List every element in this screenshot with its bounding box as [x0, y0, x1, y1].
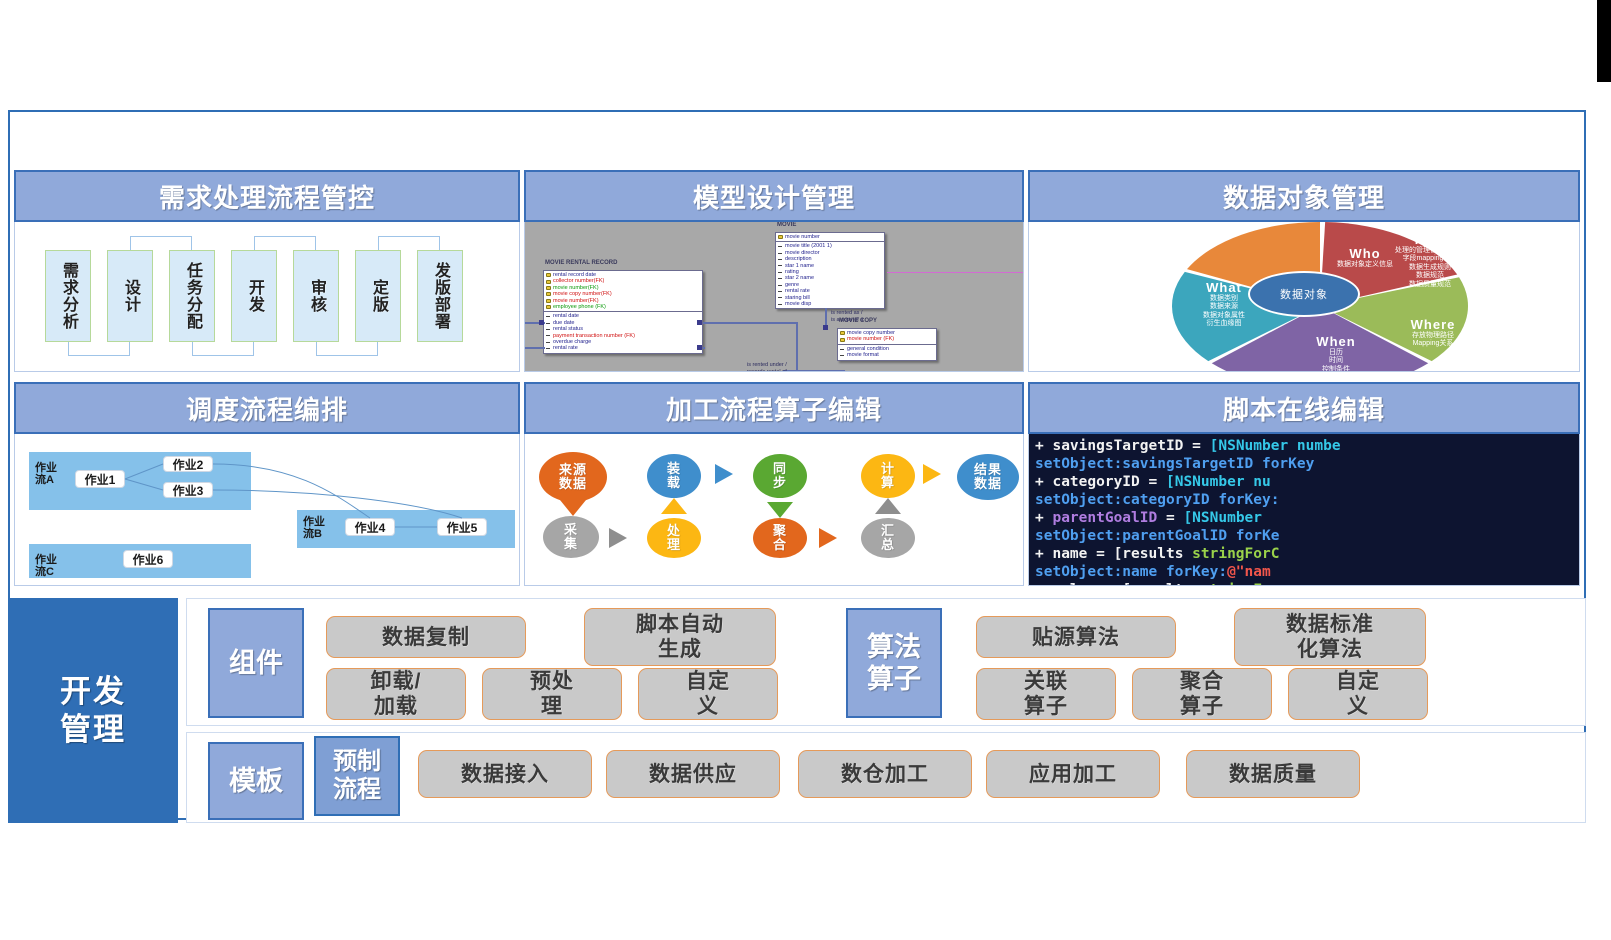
operator-node[interactable]: 同 步 [753, 454, 807, 498]
code-token: [NSNumber nu [1166, 474, 1271, 490]
dev-management-rows: 组件数据复制脚本自动 生成卸载/ 加载预处 理自定 义算法 算子贴源算法数据标准… [186, 598, 1586, 823]
requirement-workflow-diagram: 需求分析设计任务分配开发审核定版发版部署 [15, 222, 519, 371]
flow-arrow-down-icon [560, 500, 586, 516]
template-chip[interactable]: 数据质量 [1186, 750, 1360, 798]
key-icon [840, 338, 845, 342]
template-chip[interactable]: 应用加工 [986, 750, 1160, 798]
er-table-name: MOVIE [777, 222, 796, 228]
code-line: + name = [results stringForC [1035, 545, 1579, 563]
component-chip[interactable]: 脚本自动 生成 [584, 608, 776, 666]
workflow-step[interactable]: 定版 [355, 250, 401, 342]
workflow-step[interactable]: 设计 [107, 250, 153, 342]
dash-icon [840, 349, 844, 350]
er-relation-endpoint [697, 345, 702, 350]
dev-management-sidebar-label: 开发 管理 [8, 598, 178, 823]
key-icon [546, 286, 551, 290]
dev-tag-component[interactable]: 组件 [208, 608, 304, 718]
er-relation-line [796, 322, 798, 370]
key-icon [546, 280, 551, 284]
panel-schedule-header: 调度流程编排 [14, 382, 520, 434]
er-diagram: MOVIE RENTAL RECORDrental record datecol… [525, 222, 1023, 371]
panel-script-title: 脚本在线编辑 [1223, 390, 1385, 427]
schedule-edge [125, 479, 163, 490]
code-line: setObject:savingsTargetID forKey [1035, 455, 1579, 473]
panel-operator-title: 加工流程算子编辑 [666, 390, 882, 427]
operator-node[interactable]: 采 集 [543, 516, 599, 558]
er-key-row: employee phone (FK) [546, 304, 700, 310]
dev-tag-template[interactable]: 模板 [208, 742, 304, 820]
schedule-flow-diagram: 作业 流A作业 流B作业 流C作业1作业2作业3作业4作业5作业6 [15, 434, 519, 585]
script-code-editor[interactable]: + savingsTargetID = [NSNumber numbesetOb… [1029, 434, 1579, 585]
code-token: categoryID [1052, 474, 1139, 490]
panel-operator-header: 加工流程算子编辑 [524, 382, 1024, 434]
er-relation-endpoint [539, 320, 544, 325]
panel-operator-body: 来源 数据采 集装 载处 理同 步聚 合计 算汇 总结果 数据 [524, 434, 1024, 586]
panel-model-title: 模型设计管理 [693, 178, 855, 215]
dash-icon [840, 355, 844, 356]
dash-icon [778, 285, 782, 286]
key-icon [546, 305, 551, 309]
dash-icon [778, 278, 782, 279]
code-token: setObject:name forKey: [1035, 564, 1227, 580]
flow-arrow-right-icon [819, 528, 837, 548]
component-chip[interactable]: 预处 理 [482, 668, 622, 720]
code-token: parentGoalID [1052, 510, 1157, 526]
operator-node[interactable]: 结果 数据 [957, 454, 1019, 500]
dev-tag-algorithm[interactable]: 算法 算子 [846, 608, 942, 718]
pie-segment-label: When日历 时间 控制条件 [1290, 334, 1382, 373]
code-token: stringForC [1192, 546, 1279, 562]
code-token: setObject:parentGoalID forKe [1035, 528, 1279, 544]
template-chip[interactable]: 数据供应 [606, 750, 780, 798]
er-field-label: employee phone (FK) [553, 304, 606, 310]
operator-node[interactable]: 处 理 [647, 518, 701, 558]
er-relation-line-pink [887, 272, 1024, 273]
panel-script[interactable]: 脚本在线编辑 + savingsTargetID = [NSNumber num… [1028, 382, 1580, 586]
schedule-edge [125, 464, 163, 479]
code-line: setObject:name forKey:@"nam [1035, 563, 1579, 581]
er-field-label: movie format [847, 352, 879, 358]
code-token: + [1035, 582, 1052, 585]
pie-segment-label: How处理的管理信息及算法 字段mapping信息 数据生成规则 数据规范 数据… [1385, 232, 1475, 290]
workflow-connector [254, 236, 316, 250]
key-icon [778, 235, 783, 239]
data-object-pie-chart: Who数据对象定义信息How处理的管理信息及算法 字段mapping信息 数据生… [1029, 222, 1579, 371]
dash-icon [546, 329, 550, 330]
er-attr-section: general conditionmovie format [838, 345, 936, 360]
flow-arrow-up-icon [661, 498, 687, 514]
er-field-label: movie number (FK) [847, 336, 894, 342]
pie-segment-detail: 日历 时间 控制条件 [1290, 349, 1382, 373]
er-table[interactable]: MOVIEmovie numbermovie title (2001 1)mov… [775, 232, 885, 309]
code-token: setObject:savingsTargetID forKey [1035, 456, 1314, 472]
panel-requirement-header: 需求处理流程管控 [14, 170, 520, 222]
panel-model[interactable]: 模型设计管理 MOVIE RENTAL RECORDrental record … [524, 170, 1024, 372]
algorithm-chip[interactable]: 聚合 算子 [1132, 668, 1272, 720]
dash-icon [546, 348, 550, 349]
code-token: + [1035, 510, 1052, 526]
code-token: + [1035, 546, 1052, 562]
pie-segment-detail: 处理的管理信息及算法 字段mapping信息 数据生成规则 数据规范 数据质量规… [1385, 247, 1475, 290]
pie-segment-label: Where存放物理路径 Mapping关系 [1392, 317, 1474, 349]
right-edge-strip [1597, 0, 1611, 82]
code-line: setObject:parentGoalID forKe [1035, 527, 1579, 545]
panel-dataobject-body: Who数据对象定义信息How处理的管理信息及算法 字段mapping信息 数据生… [1028, 222, 1580, 372]
component-chip[interactable]: 卸载/ 加载 [326, 668, 466, 720]
operator-flow-diagram: 来源 数据采 集装 载处 理同 步聚 合计 算汇 总结果 数据 [525, 434, 1023, 585]
er-relation-line [525, 347, 545, 349]
pie-center-label: 数据对象 [1248, 271, 1360, 317]
schedule-edge [213, 490, 462, 518]
workflow-step[interactable]: 发版部署 [417, 250, 463, 342]
code-token: = [results [1087, 546, 1192, 562]
algorithm-chip[interactable]: 贴源算法 [976, 616, 1176, 658]
operator-node[interactable]: 装 载 [647, 454, 701, 498]
pie-segment-title: Where [1392, 317, 1474, 332]
panel-requirement-title: 需求处理流程管控 [159, 178, 375, 215]
er-field-label: movie disp [785, 301, 811, 307]
dash-icon [778, 246, 782, 247]
operator-node[interactable]: 汇 总 [861, 518, 915, 558]
panel-requirement-body: 需求分析设计任务分配开发审核定版发版部署 [14, 222, 520, 372]
workflow-connector [316, 342, 378, 356]
er-relation-line [783, 370, 845, 372]
operator-node[interactable]: 来源 数据 [539, 452, 607, 502]
code-line: setObject:categoryID forKey: [1035, 491, 1579, 509]
dash-icon [778, 259, 782, 260]
operator-node[interactable]: 聚 合 [753, 518, 807, 558]
dash-icon [778, 272, 782, 273]
code-token: name [1052, 546, 1087, 562]
er-key-section: movie number [776, 233, 884, 242]
key-icon [546, 299, 551, 303]
slide-canvas: 统一开发配置界面 需求处理流程管控 需求分析设计任务分配开发审核定版发版部署 模… [0, 0, 1611, 940]
code-token: = [1140, 474, 1166, 490]
dash-icon [546, 316, 550, 317]
algorithm-chip[interactable]: 数据标准 化算法 [1234, 608, 1426, 666]
code-token: [NSNumber numbe [1210, 438, 1341, 454]
code-token: @"nam [1227, 564, 1271, 580]
er-key-section: movie copy numbermovie number (FK) [838, 329, 936, 345]
component-chip[interactable]: 自定 义 [638, 668, 778, 720]
er-field-label: movie number [785, 234, 820, 240]
er-relation-endpoint [823, 325, 828, 330]
dev-tag-preset-flow[interactable]: 预制 流程 [314, 736, 400, 816]
er-attr-section: movie title (2001 1)movie directordescri… [776, 242, 884, 308]
component-chip[interactable]: 数据复制 [326, 616, 526, 658]
workflow-connector [378, 236, 440, 250]
workflow-step[interactable]: 任务分配 [169, 250, 215, 342]
algorithm-chip[interactable]: 关联 算子 [976, 668, 1116, 720]
pie-segment-title: How [1385, 232, 1475, 247]
er-attr-section: rental datedue daterental statuspayment … [544, 312, 702, 352]
panel-operator[interactable]: 加工流程算子编辑 来源 数据采 集装 载处 理同 步聚 合计 算汇 总结果 数据 [524, 382, 1024, 586]
code-token: setObject:categoryID forKey: [1035, 492, 1279, 508]
dash-icon [546, 335, 550, 336]
er-table[interactable]: MOVIE RENTAL RECORDrental record datecol… [543, 270, 703, 354]
code-token: = [1183, 438, 1209, 454]
panel-model-body: MOVIE RENTAL RECORDrental record datecol… [524, 222, 1024, 372]
panel-schedule-title: 调度流程编排 [186, 390, 348, 427]
panel-requirement[interactable]: 需求处理流程管控 需求分析设计任务分配开发审核定版发版部署 [14, 170, 520, 372]
panel-dataobject-title: 数据对象管理 [1223, 178, 1385, 215]
code-token: + [1035, 438, 1052, 454]
dash-icon [778, 291, 782, 292]
workflow-connector [68, 342, 130, 356]
code-token: + [1035, 474, 1052, 490]
key-icon [546, 292, 551, 296]
dash-icon [546, 323, 550, 324]
panel-model-header: 模型设计管理 [524, 170, 1024, 222]
schedule-edge [213, 464, 370, 518]
panel-dataobject-header: 数据对象管理 [1028, 170, 1580, 222]
algorithm-chip[interactable]: 自定 义 [1288, 668, 1428, 720]
code-token: savingsTargetID [1052, 438, 1183, 454]
panel-schedule-body: 作业 流A作业 流B作业 流C作业1作业2作业3作业4作业5作业6 [14, 434, 520, 586]
flow-arrow-down-icon [767, 502, 793, 518]
er-key-section: rental record datecollector number(FK)mo… [544, 271, 702, 312]
er-attr-row: movie disp [778, 301, 882, 307]
workflow-connector [192, 342, 254, 356]
code-line: + categoryID = [NSNumber nu [1035, 473, 1579, 491]
er-table-name: MOVIE RENTAL RECORD [545, 260, 617, 266]
template-chip[interactable]: 数据接入 [418, 750, 592, 798]
panel-dataobject[interactable]: 数据对象管理 Who数据对象定义信息How处理的管理信息及算法 字段mappin… [1028, 170, 1580, 372]
er-relation-label: is rented under / records rental of [747, 362, 787, 372]
er-table[interactable]: MOVIE COPYmovie copy numbermovie number … [837, 328, 937, 361]
code-line: + color = [results stringFor [1035, 581, 1579, 585]
pie-segment-detail: 存放物理路径 Mapping关系 [1392, 332, 1474, 349]
dash-icon [778, 265, 782, 266]
er-key-row: movie number (FK) [840, 336, 934, 342]
workflow-step[interactable]: 开发 [231, 250, 277, 342]
code-token: = [results [1096, 582, 1201, 585]
code-token: color [1052, 582, 1096, 585]
code-line: + parentGoalID = [NSNumber [1035, 509, 1579, 527]
workflow-step[interactable]: 需求分析 [45, 250, 91, 342]
panel-script-body: + savingsTargetID = [NSNumber numbesetOb… [1028, 434, 1580, 586]
template-chip[interactable]: 数仓加工 [798, 750, 972, 798]
workflow-step[interactable]: 审核 [293, 250, 339, 342]
development-management: 开发 管理 组件数据复制脚本自动 生成卸载/ 加载预处 理自定 义算法 算子贴源… [8, 598, 1586, 823]
panel-script-header: 脚本在线编辑 [1028, 382, 1580, 434]
er-field-label: rental rate [553, 345, 578, 351]
workflow-connector [130, 236, 192, 250]
dash-icon [778, 297, 782, 298]
flow-arrow-up-icon [875, 498, 901, 514]
code-line: + savingsTargetID = [NSNumber numbe [1035, 437, 1579, 455]
pie-segment-title: When [1290, 334, 1382, 349]
code-token: = [1157, 510, 1183, 526]
flow-arrow-right-icon [609, 528, 627, 548]
flow-arrow-right-icon [715, 464, 733, 484]
dash-icon [546, 342, 550, 343]
dash-icon [778, 304, 782, 305]
key-icon [546, 273, 551, 277]
flow-arrow-right-icon [923, 464, 941, 484]
er-attr-row: movie format [840, 352, 934, 358]
code-token: [NSNumber [1183, 510, 1262, 526]
er-key-row: movie number [778, 234, 882, 240]
code-token: stringFor [1201, 582, 1280, 585]
key-icon [840, 331, 845, 335]
dash-icon [778, 253, 782, 254]
er-relation-line [703, 347, 705, 349]
er-attr-row: rental rate [546, 345, 700, 351]
panel-schedule[interactable]: 调度流程编排 作业 流A作业 流B作业 流C作业1作业2作业3作业4作业5作业6 [14, 382, 520, 586]
operator-node[interactable]: 计 算 [861, 454, 915, 498]
er-relation-label: is rented as / is a copy of a [831, 310, 863, 323]
er-relation-line [703, 322, 798, 324]
er-relation-endpoint [697, 320, 702, 325]
schedule-edges [15, 434, 520, 586]
panel-grid: 需求处理流程管控 需求分析设计任务分配开发审核定版发版部署 模型设计管理 MOV… [14, 170, 1580, 590]
